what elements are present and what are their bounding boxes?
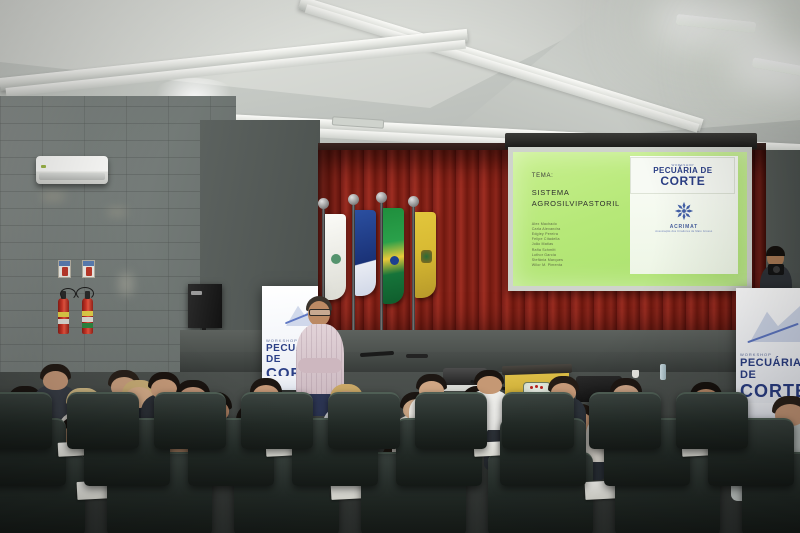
chair[interactable]: [67, 392, 139, 449]
chair[interactable]: [154, 392, 226, 449]
chair[interactable]: [241, 392, 313, 449]
auditorium-photo: WORKSHOP PECUÁRIA DE CORTE: [0, 0, 800, 533]
chair[interactable]: [676, 392, 748, 449]
chair[interactable]: [328, 392, 400, 449]
chair-area: [0, 0, 800, 533]
chair[interactable]: [502, 392, 574, 449]
chair[interactable]: [0, 392, 52, 449]
chair[interactable]: [415, 392, 487, 449]
chair[interactable]: [589, 392, 661, 449]
